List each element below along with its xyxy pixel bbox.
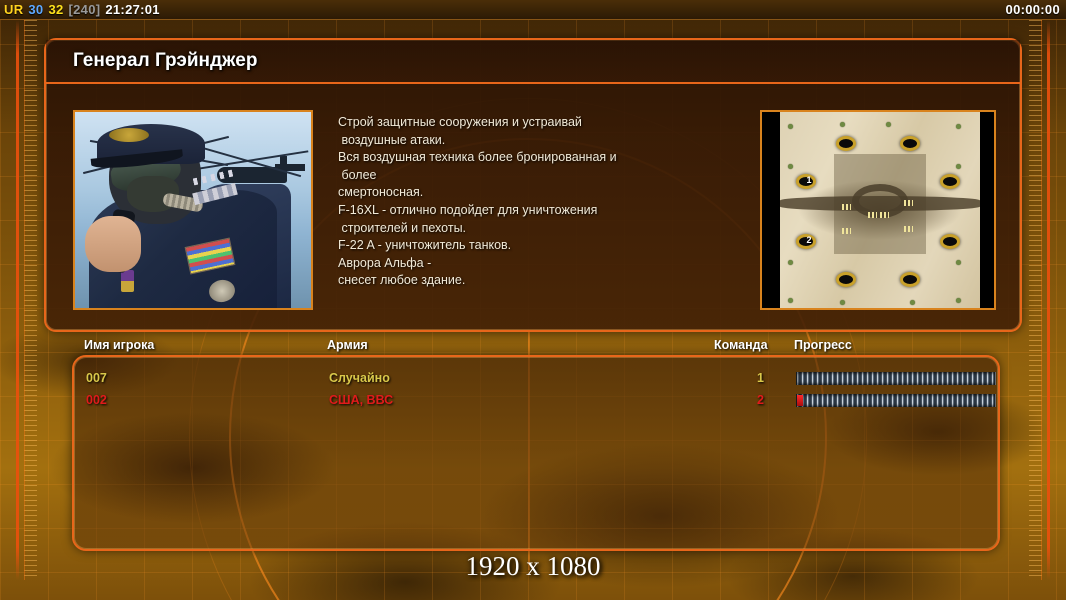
player-name: 002	[86, 393, 107, 407]
description-line: воздушные атаки.	[338, 132, 738, 150]
player-army[interactable]: США, ВВС	[329, 393, 393, 407]
general-description: Строй защитные сооружения и устраивай во…	[338, 114, 738, 290]
hud-value-bracket: [240]	[69, 2, 101, 17]
progress-marker	[797, 395, 803, 406]
description-line: F-16XL - отлично подойдет для уничтожени…	[338, 202, 738, 220]
hud-ur-label: UR	[0, 2, 23, 17]
map-start-position[interactable]	[836, 272, 856, 287]
map-supply-icon	[868, 212, 877, 218]
map-supply-icon	[842, 228, 851, 234]
map-tree-icon	[788, 164, 793, 169]
hud-value-blue: 30	[28, 2, 43, 17]
map-start-position-label: 1	[799, 175, 819, 185]
map-tree-icon	[886, 122, 891, 127]
table-row[interactable]: 007Случайно1	[74, 369, 998, 391]
hud-timer: 00:00:00	[1006, 2, 1066, 17]
player-list-panel: 007Случайно1002США, ВВС2	[72, 355, 1000, 551]
player-army[interactable]: Случайно	[329, 371, 390, 385]
left-edge-line	[16, 20, 19, 580]
description-line: Аврора Альфа -	[338, 255, 738, 273]
player-table-header: Имя игрока Армия Команда Прогресс	[72, 338, 1000, 356]
description-line: строителей и пехоты.	[338, 220, 738, 238]
map-tree-icon	[788, 124, 793, 129]
map-start-position-label: 2	[799, 235, 819, 245]
map-tree-icon	[840, 300, 845, 305]
description-line: F-22 A - уничтожитель танков.	[338, 237, 738, 255]
hand	[85, 216, 141, 272]
description-line: Вся воздушная техника более бронированна…	[338, 149, 738, 167]
page-title: Генерал Грэйнджер	[46, 50, 257, 72]
player-name: 007	[86, 371, 107, 385]
hud-clock: 21:27:01	[105, 2, 159, 17]
right-edge-line	[1047, 20, 1050, 580]
right-ruler	[1029, 20, 1042, 580]
table-row[interactable]: 002США, ВВС2	[74, 391, 998, 413]
map-tree-icon	[910, 300, 915, 305]
map-start-position[interactable]: 2	[796, 234, 816, 249]
map-supply-icon	[904, 226, 913, 232]
hud-bar: UR 30 32 [240] 21:27:01 00:00:00	[0, 0, 1066, 20]
player-progress-bar	[796, 394, 996, 407]
panel-title-bar: Генерал Грэйнджер	[46, 40, 1020, 84]
map-start-position[interactable]	[900, 136, 920, 151]
hud-value-yellow: 32	[48, 2, 63, 17]
map-tree-icon	[840, 122, 845, 127]
map-tree-icon	[788, 260, 793, 265]
map-tree-icon	[788, 298, 793, 303]
description-line: Строй защитные сооружения и устраивай	[338, 114, 738, 132]
general-info-panel: Генерал Грэйнджер	[44, 38, 1022, 332]
map-start-position[interactable]: 1	[796, 174, 816, 189]
map-start-position[interactable]	[900, 272, 920, 287]
player-progress-bar	[796, 372, 996, 385]
purple-heart-medal-icon	[121, 270, 134, 292]
game-lobby-screen: UR 30 32 [240] 21:27:01 00:00:00 Генерал…	[0, 0, 1066, 600]
map-image: 12	[780, 112, 980, 308]
portrait-artwork	[75, 112, 311, 308]
map-start-position[interactable]	[836, 136, 856, 151]
description-line: смертоносная.	[338, 184, 738, 202]
resolution-caption: 1920 x 1080	[0, 551, 1066, 582]
map-tree-icon	[956, 298, 961, 303]
cap-insignia-icon	[109, 128, 149, 142]
column-header-army: Армия	[327, 338, 368, 352]
map-tree-icon	[956, 164, 961, 169]
map-start-position[interactable]	[940, 174, 960, 189]
map-supply-icon	[904, 200, 913, 206]
description-line: снесет любое здание.	[338, 272, 738, 290]
map-start-position[interactable]	[940, 234, 960, 249]
map-supply-icon	[880, 212, 889, 218]
map-preview-panel[interactable]: 12	[760, 110, 996, 310]
map-letterbox-left	[762, 112, 780, 308]
player-team[interactable]: 1	[742, 371, 764, 385]
map-supply-icon	[842, 204, 851, 210]
description-line: более	[338, 167, 738, 185]
map-tree-icon	[956, 124, 961, 129]
general-portrait	[73, 110, 313, 310]
column-header-progress: Прогресс	[794, 338, 852, 352]
left-ruler	[24, 20, 37, 580]
column-header-player-name: Имя игрока	[84, 338, 154, 352]
column-header-team: Команда	[714, 338, 768, 352]
map-tree-icon	[956, 260, 961, 265]
player-team[interactable]: 2	[742, 393, 764, 407]
